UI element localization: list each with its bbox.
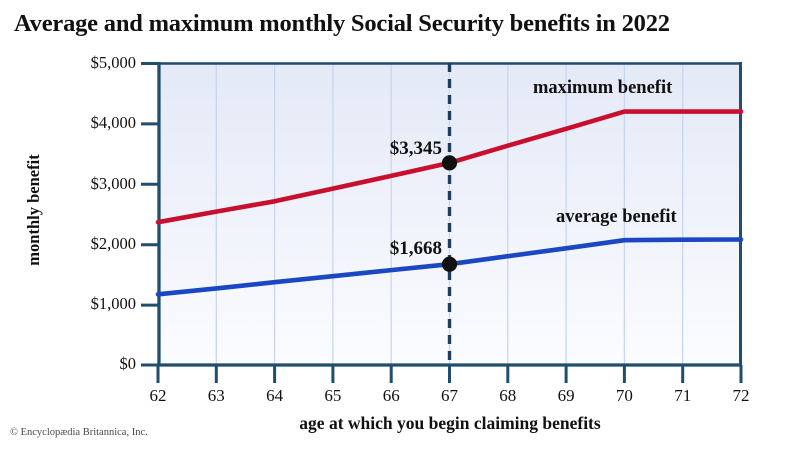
series-label-average-benefit: average benefit (556, 207, 677, 228)
y-tick-label-5000: $5,000 (50, 53, 136, 73)
y-tick-label-1000: $1,000 (50, 294, 136, 314)
x-tick-label-68: 68 (488, 386, 528, 406)
x-tick-label-71: 71 (663, 386, 703, 406)
x-tick-label-67: 67 (430, 386, 470, 406)
series-label-maximum-benefit: maximum benefit (533, 78, 672, 99)
x-axis-ticks (158, 365, 741, 383)
y-axis-ticks (141, 64, 159, 366)
x-tick-label-62: 62 (138, 386, 178, 406)
y-tick-label-0: $0 (50, 354, 136, 374)
x-tick-label-64: 64 (255, 386, 295, 406)
x-axis-title: age at which you begin claiming benefits (158, 413, 742, 434)
x-tick-label-66: 66 (371, 386, 411, 406)
annotation-average-benefit-value: $1,668 (302, 238, 442, 260)
x-tick-label-69: 69 (546, 386, 586, 406)
chart-figure: Average and maximum monthly Social Secur… (0, 0, 800, 450)
y-tick-label-2000: $2,000 (50, 234, 136, 254)
data-point-marker-average (442, 257, 457, 272)
data-point-marker-maximum (442, 155, 457, 170)
y-tick-label-4000: $4,000 (50, 113, 136, 133)
x-tick-label-70: 70 (604, 386, 644, 406)
y-axis-title: monthly benefit (24, 130, 44, 290)
y-tick-label-3000: $3,000 (50, 174, 136, 194)
x-tick-label-65: 65 (313, 386, 353, 406)
x-tick-label-72: 72 (721, 386, 761, 406)
copyright-credit: © Encyclopædia Britannica, Inc. (10, 427, 148, 438)
annotation-maximum-benefit-value: $3,345 (302, 138, 442, 160)
x-tick-label-63: 63 (196, 386, 236, 406)
